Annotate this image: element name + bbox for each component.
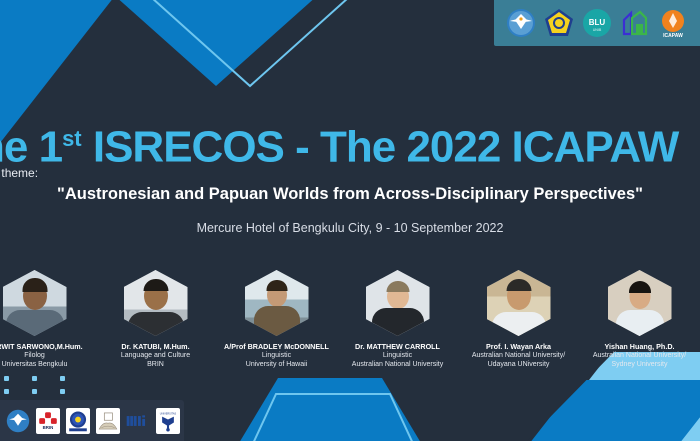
universitas-bengkulu-logo xyxy=(544,8,574,38)
svg-text:BLU: BLU xyxy=(589,18,606,27)
top-sponsor-logo-bar: BLU UNIB ICAPAW xyxy=(494,0,700,46)
bottom-right-blue-diagonal-shape xyxy=(501,380,700,441)
speaker-role: Australian National University/ xyxy=(593,351,686,360)
speaker-photo-yishan-huang xyxy=(608,270,672,336)
green-house-logo xyxy=(620,8,650,38)
conference-theme-text: "Austronesian and Papuan Worlds from Acr… xyxy=(0,185,700,204)
speaker-name: A/Prof BRADLEY McDONNELL xyxy=(224,342,329,351)
speaker-role: Language and Culture xyxy=(121,351,190,360)
svg-text:BRIN: BRIN xyxy=(43,425,54,430)
universitas-bengkulu-seal-logo xyxy=(66,408,90,434)
poster-canvas: BLU UNIB ICAPAW he 1st ISRECOS - The 202… xyxy=(0,0,700,441)
university-crest-logo: UNIVERSITAS xyxy=(156,408,180,434)
speaker-photo-katubi xyxy=(124,270,188,336)
speaker-photo-bradley-mcdonnell xyxy=(245,270,309,336)
speaker-card: SARWIT SARWONO,M.Hum. Filolog Universita… xyxy=(0,270,95,380)
speaker-name: Dr. KATUBI, M.Hum. xyxy=(121,342,189,351)
svg-text:ICAPAW: ICAPAW xyxy=(663,33,683,38)
brin-logo: BRIN xyxy=(36,408,60,434)
bottom-center-trapezoid-outline xyxy=(248,392,418,441)
speaker-photo-matthew-carroll xyxy=(366,270,430,336)
speaker-org: University of Hawaii xyxy=(246,360,307,369)
conference-theme-label: ence theme: xyxy=(0,166,372,180)
manuscript-society-logo xyxy=(96,408,120,434)
hexagon-outline-icon xyxy=(150,0,350,90)
svg-text:UNIB: UNIB xyxy=(593,28,602,32)
speaker-org: Udayana UNiversity xyxy=(488,360,550,369)
icapaw-logo: ICAPAW xyxy=(658,8,688,38)
speaker-role: Linguistic xyxy=(262,351,291,360)
speaker-list: SARWIT SARWONO,M.Hum. Filolog Universita… xyxy=(0,270,700,380)
speaker-name: SARWIT SARWONO,M.Hum. xyxy=(0,342,83,351)
headline-ordinal-suffix: st xyxy=(62,126,82,151)
speaker-org: BRIN xyxy=(147,360,164,369)
speaker-org: Sydney University xyxy=(611,360,667,369)
speaker-role: Filolog xyxy=(24,351,45,360)
headline-ordinal-number: 1 xyxy=(39,123,62,172)
speaker-org: Australian National University xyxy=(352,360,443,369)
svg-text:UNIVERSITAS: UNIVERSITAS xyxy=(160,412,177,415)
speaker-card: Dr. KATUBI, M.Hum. Language and Culture … xyxy=(95,270,216,380)
speaker-photo-i-wayan-arka xyxy=(487,270,551,336)
headline-prefix: he xyxy=(0,123,39,172)
tut-wuri-handayani-logo xyxy=(506,8,536,38)
mli-logo xyxy=(126,408,150,434)
speaker-card: Dr. MATTHEW CARROLL Linguistic Australia… xyxy=(337,270,458,380)
blu-logo: BLU UNIB xyxy=(582,8,612,38)
bottom-sponsor-logo-bar: BRIN xyxy=(0,400,184,441)
speaker-card: A/Prof BRADLEY McDONNELL Linguistic Univ… xyxy=(216,270,337,380)
venue-and-date: Mercure Hotel of Bengkulu City, 9 - 10 S… xyxy=(0,221,700,235)
speaker-name: Yishan Huang, Ph.D. xyxy=(604,342,674,351)
speaker-photo-sarwit-sarwono xyxy=(3,270,67,336)
speaker-card: Yishan Huang, Ph.D. Australian National … xyxy=(579,270,700,380)
speaker-name: Prof. I. Wayan Arka xyxy=(486,342,551,351)
speaker-role: Australian National University/ xyxy=(472,351,565,360)
speaker-role: Linguistic xyxy=(383,351,412,360)
speaker-org: Universitas Bengkulu xyxy=(2,360,68,369)
speaker-name: Dr. MATTHEW CARROLL xyxy=(355,342,440,351)
headline-rest: ISRECOS - The 2022 ICAPAW xyxy=(82,123,679,172)
tut-wuri-handayani-logo xyxy=(6,408,30,434)
top-center-hexagon-outline xyxy=(150,0,350,90)
speaker-card: Prof. I. Wayan Arka Australian National … xyxy=(458,270,579,380)
